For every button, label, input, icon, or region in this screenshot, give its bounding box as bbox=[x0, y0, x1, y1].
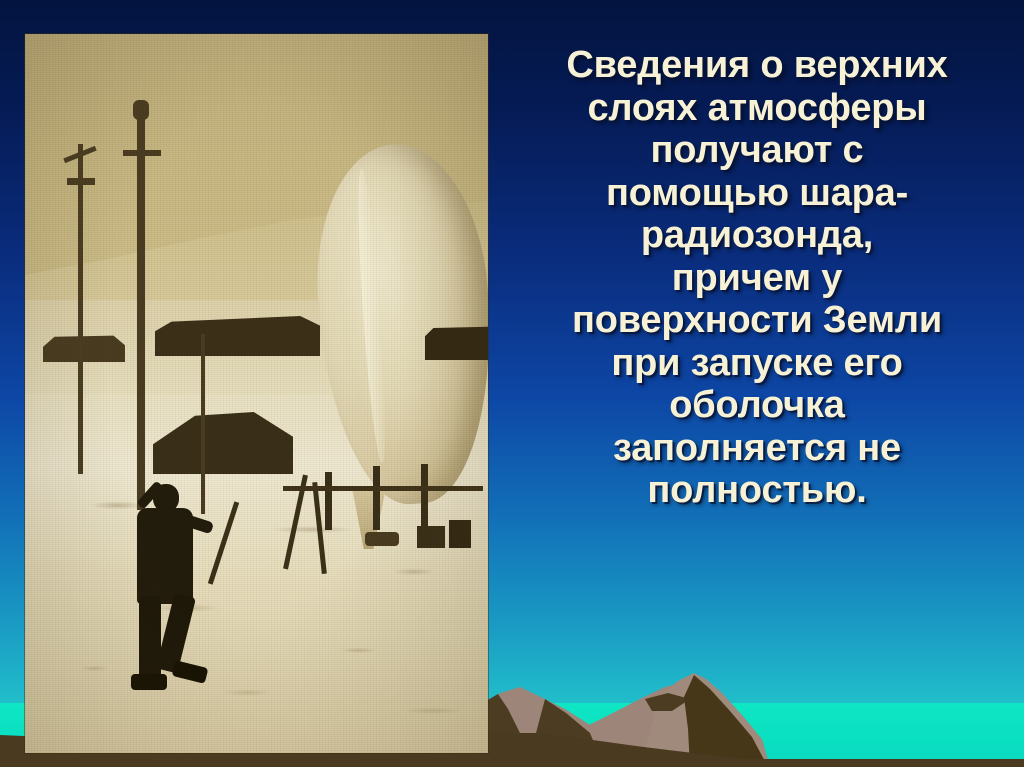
body-text-line: Сведения о верхних bbox=[497, 44, 1017, 87]
crate-1 bbox=[417, 526, 445, 548]
body-text-line: слоях атмосферы bbox=[497, 87, 1017, 130]
body-text-line: причем у bbox=[497, 257, 1017, 300]
mountain-base bbox=[0, 759, 1024, 767]
fence-post-1 bbox=[325, 472, 332, 530]
station-building-row bbox=[155, 316, 320, 356]
body-text-line: радиозонда, bbox=[497, 214, 1017, 257]
antenna-top-knob bbox=[133, 100, 149, 120]
station-building-right bbox=[425, 326, 488, 360]
person-leg-back bbox=[139, 596, 161, 682]
slide-photo bbox=[25, 34, 488, 753]
antenna-crossbar-2 bbox=[67, 178, 95, 185]
body-text-line: полностью. bbox=[497, 469, 1017, 512]
antenna-mast-2 bbox=[137, 110, 145, 510]
mountain-shadow-right bbox=[684, 675, 768, 767]
body-text-line: получают с bbox=[497, 129, 1017, 172]
fence-post-2 bbox=[373, 466, 380, 530]
antenna-mast-1 bbox=[78, 144, 83, 474]
person-boot-front bbox=[172, 660, 209, 684]
fence-post-3 bbox=[421, 464, 428, 526]
body-text-line: оболочка bbox=[497, 384, 1017, 427]
person-boot-back bbox=[131, 674, 167, 690]
slide-body-text: Сведения о верхних слоях атмосферы получ… bbox=[497, 44, 1017, 512]
presentation-slide: Сведения о верхних слоях атмосферы получ… bbox=[0, 0, 1024, 767]
body-text-line: помощью шара- bbox=[497, 172, 1017, 215]
crate-3 bbox=[365, 532, 399, 546]
fence-rail bbox=[283, 486, 483, 491]
body-text-line: заполняется не bbox=[497, 427, 1017, 470]
body-text-line: при запуске его bbox=[497, 342, 1017, 385]
person-walking bbox=[125, 484, 211, 699]
body-text-line: поверхности Земли bbox=[497, 299, 1017, 342]
antenna-crossbar-3 bbox=[123, 150, 161, 156]
crate-2 bbox=[449, 520, 471, 548]
station-building-left bbox=[43, 334, 125, 362]
